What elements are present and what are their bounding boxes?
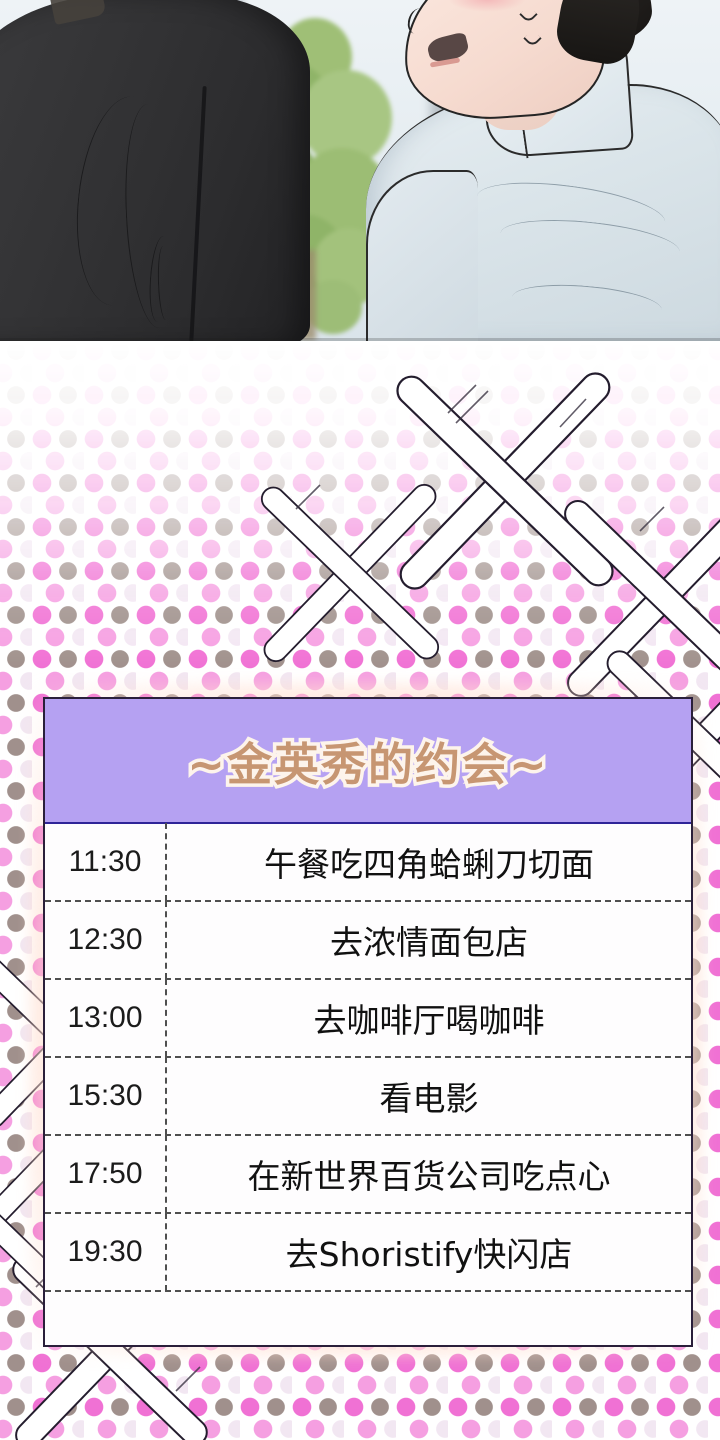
row-activity: 在新世界百货公司吃点心 [167, 1150, 691, 1198]
row-time: 19:30 [45, 1213, 167, 1291]
row-activity: 去Shoristify快闪店 [167, 1228, 691, 1276]
row-time: 17:50 [45, 1135, 167, 1213]
schedule-card-footer [45, 1292, 691, 1347]
schedule-rows: 11:30 午餐吃四角蛤蜊刀切面 12:30 去浓情面包店 13:00 去咖啡厅… [45, 824, 691, 1292]
row-time: 11:30 [45, 823, 167, 901]
table-row: 15:30 看电影 [45, 1058, 691, 1136]
webtoon-page: ~金英秀的约会~ 11:30 午餐吃四角蛤蜊刀切面 12:30 去浓情面包店 1… [0, 0, 720, 1440]
light-shirt-arm [366, 170, 478, 341]
schedule-card: ~金英秀的约会~ 11:30 午餐吃四角蛤蜊刀切面 12:30 去浓情面包店 1… [43, 697, 693, 1347]
schedule-card-header: ~金英秀的约会~ [45, 699, 691, 824]
schedule-title: ~金英秀的约会~ [187, 728, 548, 793]
row-time: 13:00 [45, 979, 167, 1057]
row-activity: 看电影 [167, 1072, 691, 1120]
table-row: 12:30 去浓情面包店 [45, 902, 691, 980]
row-time: 12:30 [45, 901, 167, 979]
table-row: 11:30 午餐吃四角蛤蜊刀切面 [45, 824, 691, 902]
row-time: 15:30 [45, 1057, 167, 1135]
row-activity: 午餐吃四角蛤蜊刀切面 [167, 838, 691, 886]
table-row: 19:30 去Shoristify快闪店 [45, 1214, 691, 1292]
table-row: 17:50 在新世界百货公司吃点心 [45, 1136, 691, 1214]
row-activity: 去咖啡厅喝咖啡 [167, 994, 691, 1042]
row-activity: 去浓情面包店 [167, 916, 691, 964]
comic-panel [0, 0, 720, 341]
table-row: 13:00 去咖啡厅喝咖啡 [45, 980, 691, 1058]
